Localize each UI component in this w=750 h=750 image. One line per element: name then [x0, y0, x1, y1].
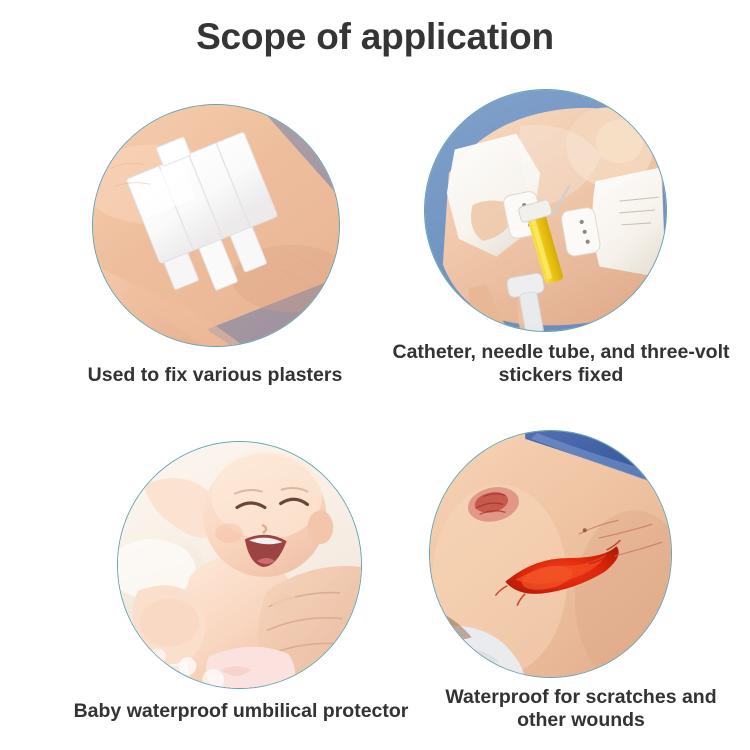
- caption-baby: Baby waterproof umbilical protector: [55, 700, 427, 723]
- image-laughing-baby-in-bath-held-by-adult-hand: [117, 441, 362, 689]
- caption-line: Used to fix various plasters: [40, 364, 390, 387]
- caption-line: Catheter, needle tube, and three-volt: [372, 341, 750, 364]
- caption-line: other wounds: [412, 709, 750, 732]
- image-leg-with-red-abrasion-scrape-wound: [429, 430, 672, 678]
- caption-catheter: Catheter, needle tube, and three-volt st…: [372, 341, 750, 387]
- caption-line: Baby waterproof umbilical protector: [55, 700, 427, 723]
- caption-wound: Waterproof for scratches and other wound…: [412, 686, 750, 732]
- image-forearm-with-white-medical-tape-strips: [92, 104, 340, 347]
- caption-line: stickers fixed: [372, 364, 750, 387]
- caption-line: Waterproof for scratches and: [412, 686, 750, 709]
- caption-plasters: Used to fix various plasters: [40, 364, 390, 387]
- page-title: Scope of application: [0, 16, 750, 58]
- image-hand-with-iv-catheter-secured-by-dressings: [424, 89, 667, 332]
